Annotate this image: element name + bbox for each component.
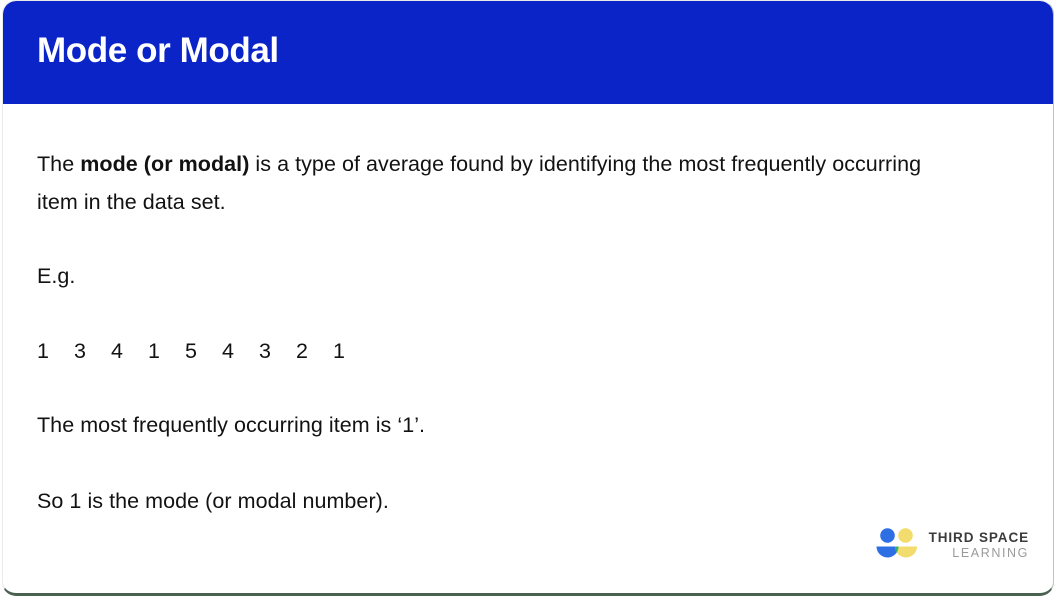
lesson-card: Mode or Modal The mode (or modal) is a t… bbox=[2, 0, 1054, 596]
logo-people-icon bbox=[875, 528, 919, 562]
conclusion-most-frequent: The most frequently occurring item is ‘1… bbox=[37, 406, 425, 444]
data-set-list: 1 3 4 1 5 4 3 2 1 bbox=[37, 332, 370, 370]
data-set-value: 4 bbox=[222, 332, 259, 370]
definition-term: mode (or modal) bbox=[80, 152, 249, 176]
example-label: E.g. bbox=[37, 257, 75, 295]
data-set-value: 4 bbox=[111, 332, 148, 370]
third-space-learning-logo: THIRD SPACE LEARNING bbox=[875, 528, 1029, 562]
logo-name-secondary: LEARNING bbox=[929, 547, 1029, 560]
data-set-value: 1 bbox=[333, 332, 370, 370]
data-set-value: 5 bbox=[185, 332, 222, 370]
logo-name-primary: THIRD SPACE bbox=[929, 531, 1029, 545]
page-title: Mode or Modal bbox=[37, 28, 279, 74]
data-set-value: 1 bbox=[148, 332, 185, 370]
data-set-value: 3 bbox=[74, 332, 111, 370]
data-set-value: 2 bbox=[296, 332, 333, 370]
card-body: The mode (or modal) is a type of average… bbox=[3, 104, 1053, 596]
card-header: Mode or Modal bbox=[3, 1, 1053, 104]
conclusion-mode-statement: So 1 is the mode (or modal number). bbox=[37, 482, 389, 520]
definition-text-before-bold: The bbox=[37, 152, 80, 176]
logo-wordmark: THIRD SPACE LEARNING bbox=[929, 531, 1029, 560]
data-set-value: 3 bbox=[259, 332, 296, 370]
data-set-value: 1 bbox=[37, 332, 74, 370]
definition-paragraph: The mode (or modal) is a type of average… bbox=[37, 145, 927, 221]
